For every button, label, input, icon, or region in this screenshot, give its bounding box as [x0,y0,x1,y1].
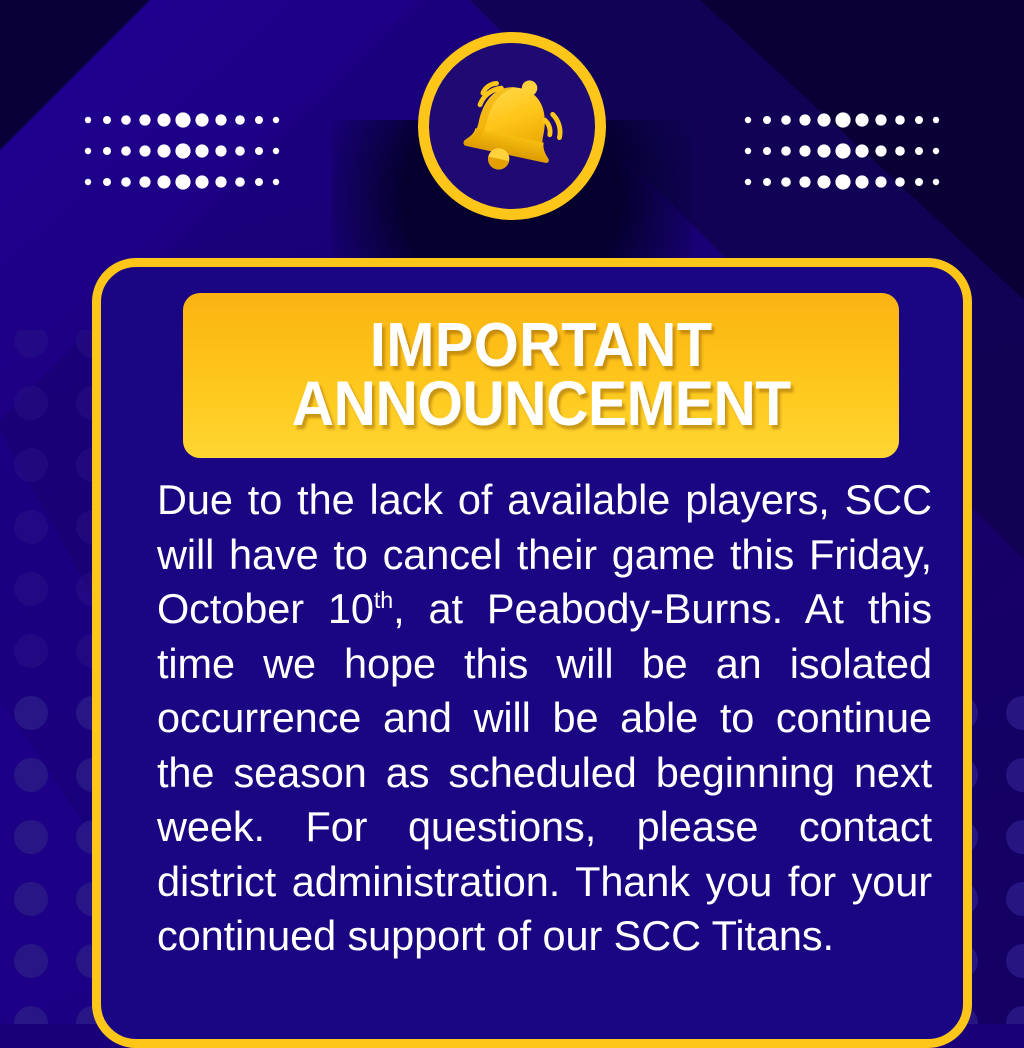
dot-grid-left [84,112,280,190]
date-number: 10 [328,585,374,632]
bell-badge [418,32,606,220]
announcement-body: Due to the lack of available players, SC… [157,473,932,964]
body-text-after-date: , at Peabody-Burns. At this time we hope… [157,585,932,959]
announcement-card: IMPORTANT ANNOUNCEMENT Due to the lack o… [92,258,972,1048]
title-line-2: ANNOUNCEMENT [292,375,791,434]
dot-grid-right [744,112,940,190]
page-title: IMPORTANT ANNOUNCEMENT [292,317,791,433]
date-ordinal-suffix: th [374,587,393,613]
bell-icon [450,64,574,188]
title-banner: IMPORTANT ANNOUNCEMENT [183,293,899,458]
